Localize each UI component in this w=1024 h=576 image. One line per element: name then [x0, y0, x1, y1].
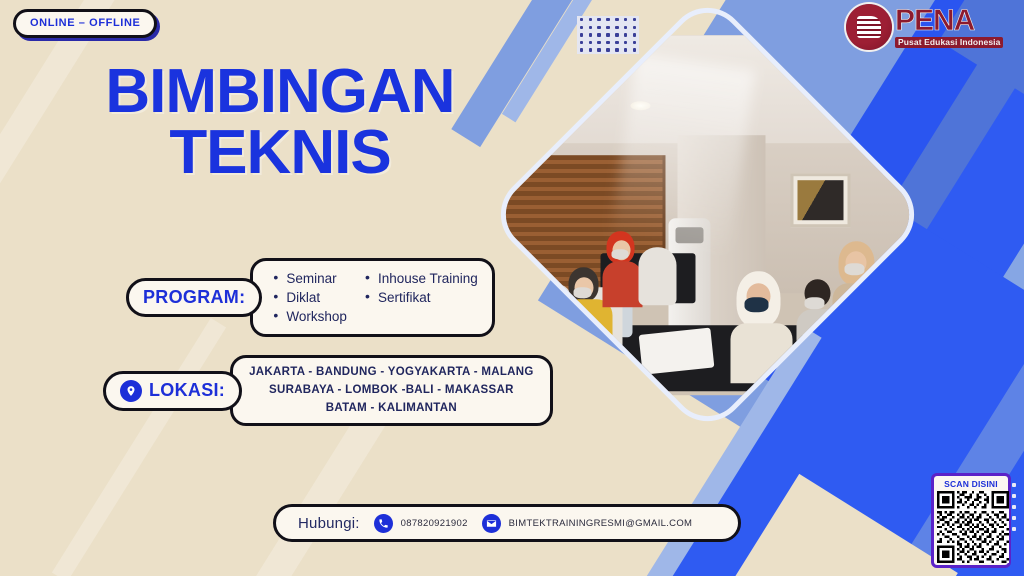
contact-email[interactable]: BIMTEKTRAININGRESMI@GMAIL.COM — [482, 514, 693, 533]
logo-tagline: Pusat Edukasi Indonesia — [895, 37, 1003, 48]
title-line-2: TEKNIS — [0, 123, 560, 184]
qr-label: SCAN DISINI — [937, 479, 1005, 489]
lokasi-line: SURABAYA - LOMBOK -BALI - MAKASSAR — [249, 382, 534, 400]
brand-logo: PENA Pusat Edukasi Indonesia — [846, 4, 1003, 50]
program-column-2: Inhouse Training Sertifikat — [365, 269, 478, 326]
list-item: Inhouse Training — [365, 269, 478, 288]
dot-column-decoration — [1012, 483, 1016, 531]
lokasi-label: LOKASI: — [149, 380, 225, 401]
envelope-icon — [482, 514, 501, 533]
phone-icon — [374, 514, 393, 533]
list-item: Seminar — [273, 269, 347, 288]
photo-paper — [639, 327, 715, 374]
photo-chair — [639, 247, 677, 305]
list-item: Workshop — [273, 307, 347, 326]
contact-bar: Hubungi: 087820921902 BIMTEKTRAININGRESM… — [273, 504, 741, 542]
contact-label: Hubungi: — [298, 515, 360, 532]
dot-grid-decoration — [577, 16, 639, 54]
lokasi-line: BATAM - KALIMANTAN — [249, 400, 534, 418]
lokasi-section: LOKASI: JAKARTA - BANDUNG - YOGYAKARTA -… — [103, 355, 553, 426]
pena-emblem-icon — [846, 4, 892, 50]
program-list-panel: Seminar Diklat Workshop Inhouse Training… — [250, 258, 494, 337]
program-column-1: Seminar Diklat Workshop — [273, 269, 347, 326]
lokasi-list-panel: JAKARTA - BANDUNG - YOGYAKARTA - MALANG … — [230, 355, 553, 426]
list-item: Diklat — [273, 288, 347, 307]
qr-code-image — [937, 491, 1009, 563]
location-pin-icon — [120, 380, 142, 402]
title-line-1: BIMBINGAN — [105, 57, 454, 126]
poster-canvas: PENA Pusat Edukasi Indonesia ONLINE – OF… — [0, 0, 1024, 576]
phone-number: 087820921902 — [401, 518, 468, 529]
logo-name: PENA — [895, 6, 1003, 36]
qr-card[interactable]: SCAN DISINI — [931, 473, 1011, 568]
list-item: Sertifikat — [365, 288, 478, 307]
email-address: BIMTEKTRAININGRESMI@GMAIL.COM — [509, 518, 693, 529]
lokasi-line: JAKARTA - BANDUNG - YOGYAKARTA - MALANG — [249, 364, 534, 382]
page-title: BIMBINGAN TEKNIS — [0, 62, 560, 184]
photo-wall-frame — [791, 173, 851, 227]
program-label: PROGRAM: — [126, 278, 262, 317]
online-offline-badge: ONLINE – OFFLINE — [13, 9, 157, 38]
lokasi-label-tag: LOKASI: — [103, 371, 242, 411]
contact-phone[interactable]: 087820921902 — [374, 514, 468, 533]
program-section: PROGRAM: Seminar Diklat Workshop Inhouse… — [126, 258, 495, 337]
